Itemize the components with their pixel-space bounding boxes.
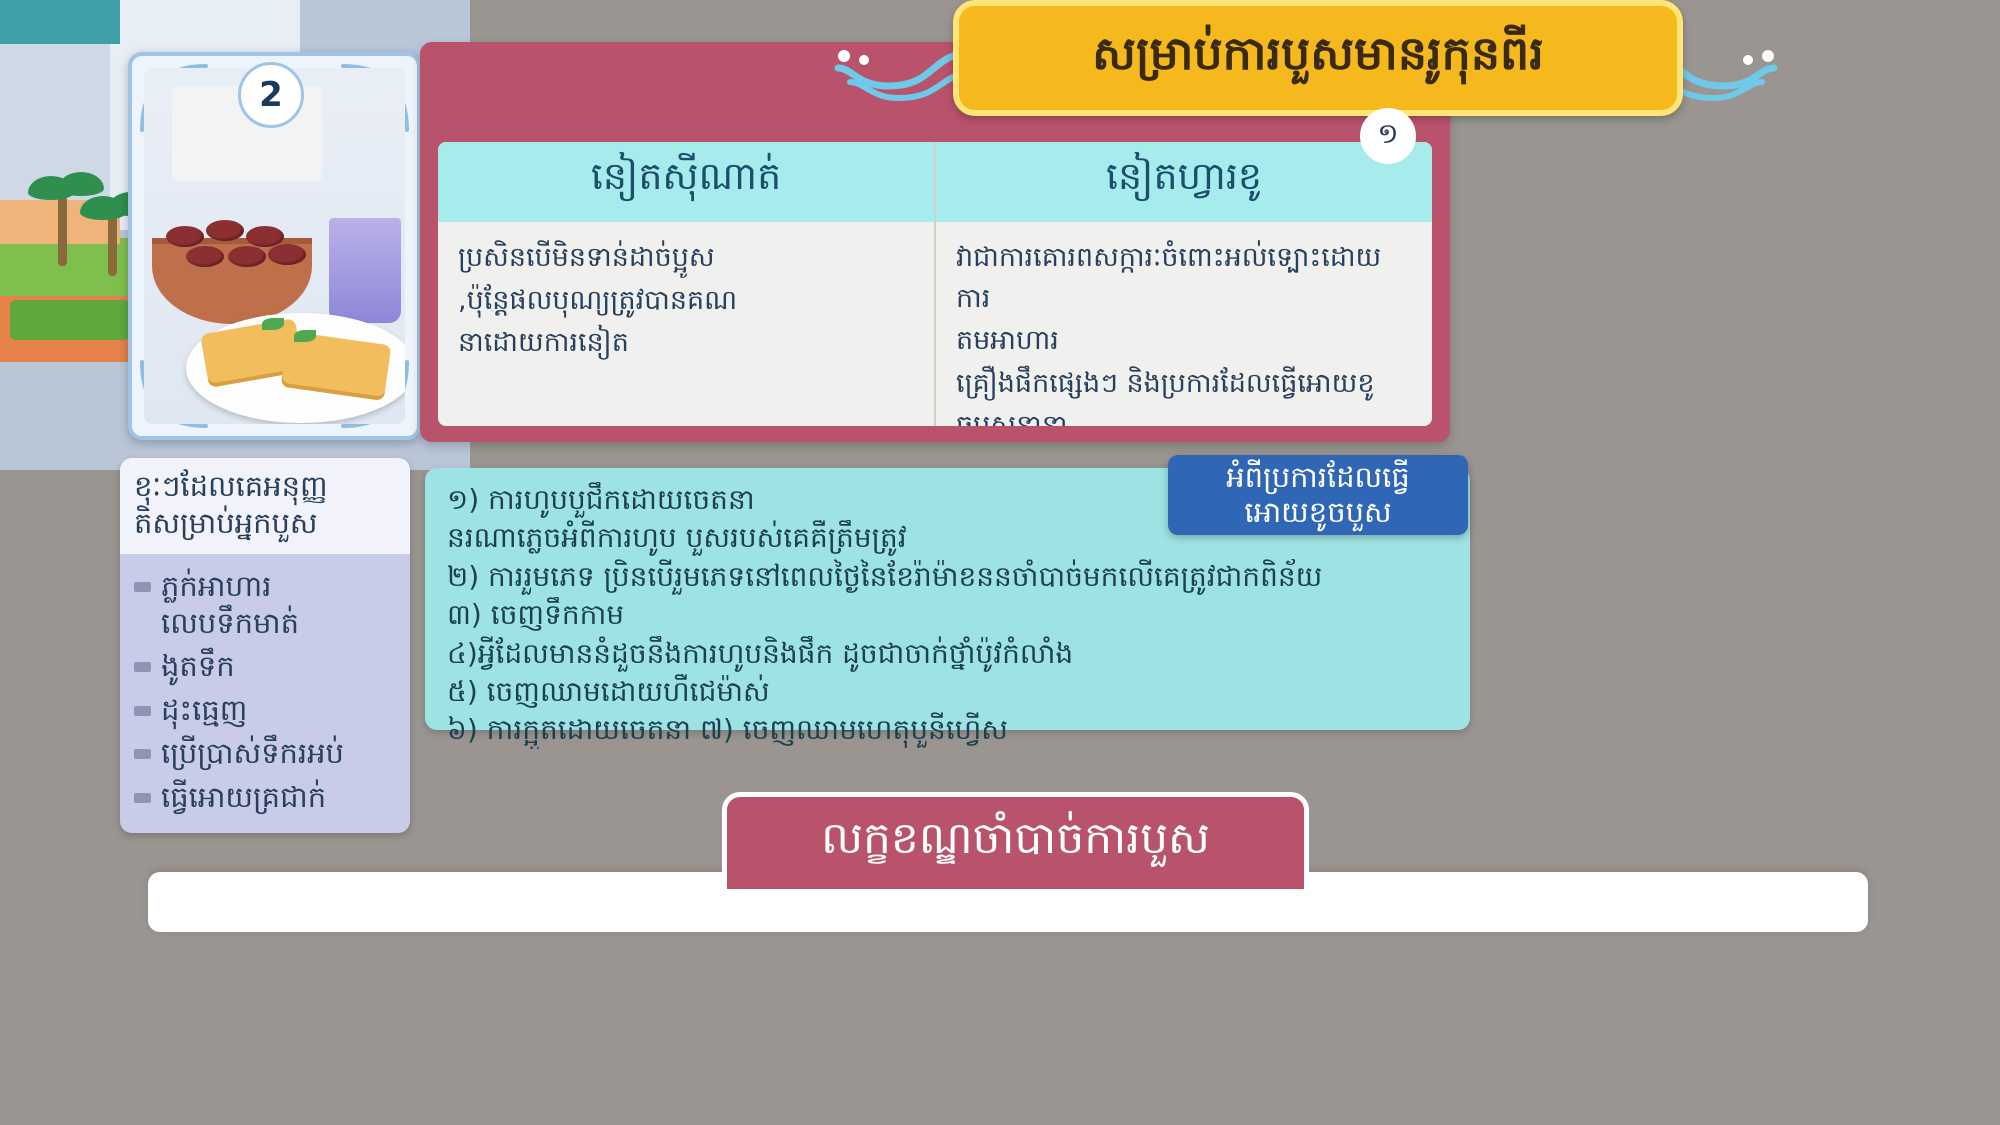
table-column-header-sunnah: នៀតសុីណាត់ [438,142,934,222]
date-fruit-icon [166,226,204,247]
numbered-item: ៣) ចេញទឹកកាម [447,597,1448,633]
table-column-header-fard: នៀតហ្វារខូ [934,142,1432,222]
numbered-item: ៦) ការក្អួតដោយចេតនា ៧) ចេញឈាមហេតុបួនីហ្វ… [447,712,1448,748]
conditions-section-label: លក្ខខណ្ឌចាំបាច់ការបួស [821,811,1210,875]
table-cell-line: ប្រសិនបើមិនទាន់ដាច់ប្អូស [458,238,914,279]
bullet-square-icon [134,793,151,803]
list-item-label: ភ្លក់អាហារ លេបទឹកមាត់ [161,568,299,641]
table-header-row: នៀតសុីណាត់ នៀតហ្វារខូ [438,142,1432,222]
table-cell-sunnah: ប្រសិនបើមិនទាន់ដាច់ប្អូស ,ប៉ុន្តែផលបុណ្យ… [438,222,934,426]
table-cell-line: តមអាហារ [956,321,1412,362]
drink-cup-image [329,218,401,323]
page-title: សម្រាប់ការបួសមានរូកុនពីរ [1092,25,1544,92]
palm-trunk-icon [108,214,117,276]
bullet-square-icon [134,582,151,592]
bullet-square-icon [134,749,151,759]
date-fruit-icon [228,246,266,267]
date-fruit-icon [186,246,224,267]
table-cell-fard: វាជាការគោរពសក្ការៈចំពោះអល់ទ្បោះដោយការ តម… [934,222,1432,426]
comparison-table: នៀតសុីណាត់ នៀតហ្វារខូ ប្រសិនបើមិនទាន់ដាច… [438,142,1432,426]
table-cell-line: ,ប៉ុន្តែផលបុណ្យត្រូវបានគណ [458,281,914,322]
herb-leaf-icon [262,318,284,330]
illustration-grass [10,300,130,340]
table-cell-line: គ្រឿងផឹកផ្សេងៗ និងប្រការដែលធ្វើអោយខូ [956,364,1412,405]
illustration-roof [0,0,120,44]
table-cell-line: វាជាការគោរពសក្ការៈចំពោះអល់ទ្បោះដោយការ [956,238,1412,319]
table-cell-line: ចបួសនានា [956,406,1412,426]
herb-leaf-icon [294,330,316,342]
invalidators-badge: អំពីប្រការដែលធ្វើ អោយខូចបួស [1168,455,1468,535]
list-item: ងូតទឹក [134,648,400,685]
list-item: ប្រើប្រាស់ទឹករអប់ [134,735,400,772]
list-item-label: ប្រើប្រាស់ទឹករអប់ [161,735,344,772]
date-fruit-icon [206,220,244,241]
list-item-label: ងូតទឹក [161,648,235,685]
page-number-badge: ១ [1360,108,1416,164]
step-number-badge: 2 [238,62,304,128]
permitted-actions-title: ខុៈៗដែលគេអនុញ្ញ តិសម្រាប់អ្នកបួស [120,458,410,554]
date-fruit-icon [268,244,306,265]
conditions-section-tab: លក្ខខណ្ឌចាំបាច់ការបួស [722,792,1309,894]
permitted-actions-items: ភ្លក់អាហារ លេបទឹកមាត់ ងូតទឹក ដុះធ្មេញ ប្… [120,554,410,830]
list-item: ភ្លក់អាហារ លេបទឹកមាត់ [134,568,400,641]
palm-trunk-icon [58,196,67,266]
list-item-label: ធ្វើអោយគ្រជាក់ [161,779,326,816]
permitted-actions-list: ខុៈៗដែលគេអនុញ្ញ តិសម្រាប់អ្នកបួស ភ្លក់អា… [120,458,410,833]
numbered-item: ២) ការរួមភេទ ប្រិនបើរួមភេទនៅពេលថ្ងៃនៃខែរ… [447,559,1448,595]
list-item-label: ដុះធ្មេញ [161,692,247,729]
list-item: ដុះធ្មេញ [134,692,400,729]
main-content-panel: សម្រាប់ការបួសមានរូកុនពីរ ១ នៀតសុីណាត់ នៀ… [420,42,1450,442]
page-title-ribbon: សម្រាប់ការបួសមានរូកុនពីរ [953,0,1683,116]
table-cell-line: នាដោយការនៀត [458,323,914,364]
numbered-item: ៤)អ្វីដែលមាននំដួចនឹងការហូបនិងផឹក ដូចជាចា… [447,636,1448,672]
table-row: ប្រសិនបើមិនទាន់ដាច់ប្អូស ,ប៉ុន្តែផលបុណ្យ… [438,222,1432,426]
bullet-square-icon [134,706,151,716]
list-item: ធ្វើអោយគ្រជាក់ [134,779,400,816]
numbered-item: ៥) ចេញឈាមដោយហឺជេម៉ាស់ [447,674,1448,710]
date-fruit-icon [246,226,284,247]
bullet-square-icon [134,662,151,672]
